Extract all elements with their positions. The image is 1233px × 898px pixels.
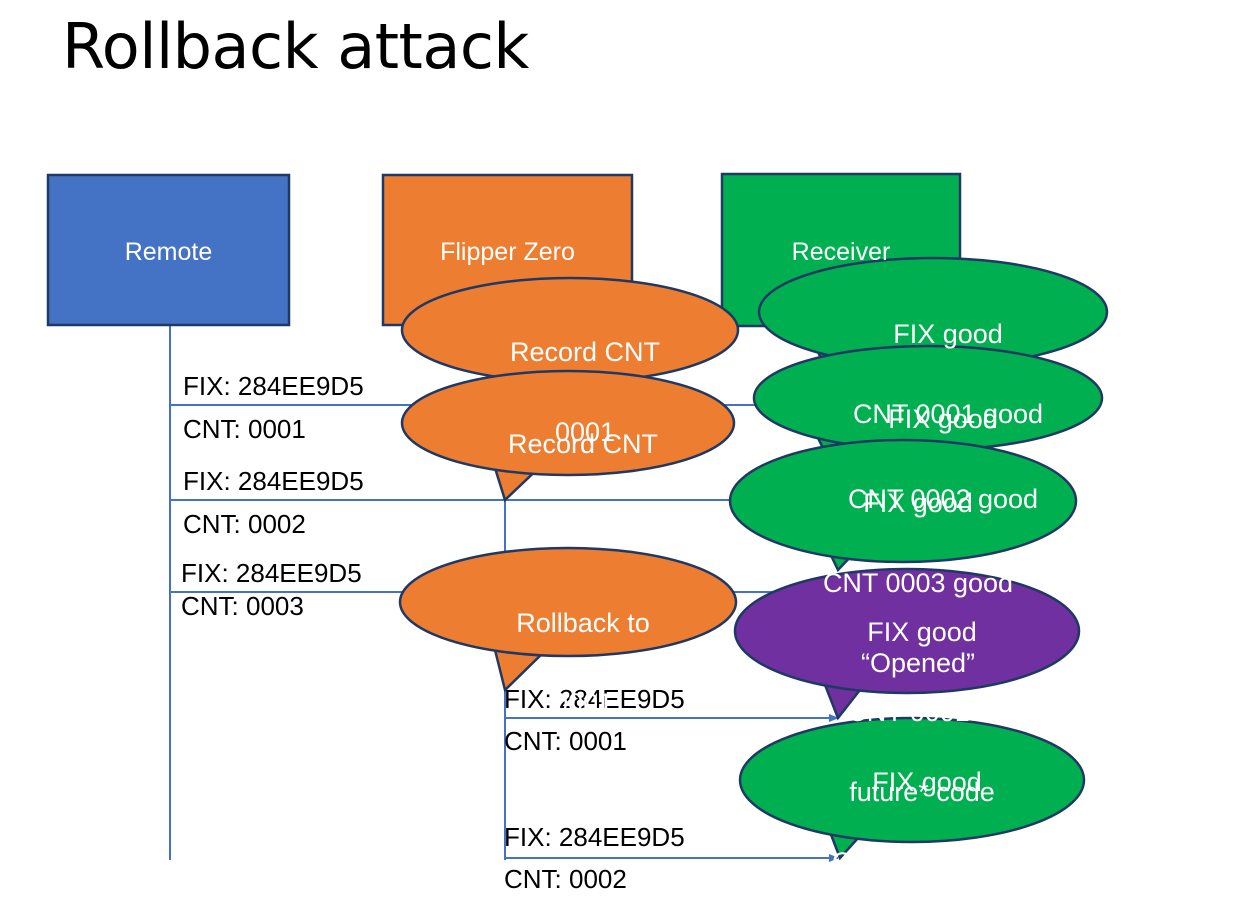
message-cnt-m4: CNT: 0001 [504,726,627,757]
callout-rb5[interactable] [740,718,1084,858]
callout-rb4[interactable] [735,569,1079,718]
lane-label-remote: Remote [48,238,289,267]
message-cnt-m2: CNT: 0002 [183,509,306,540]
message-fix-m5: FIX: 284EE9D5 [504,822,685,853]
slide-canvas: Rollback attack Remote Flipper Zero Rece… [0,0,1233,898]
lane-label-receiver: Receiver [722,238,960,267]
page-title: Rollback attack [62,10,529,83]
message-cnt-m3: CNT: 0003 [181,591,304,622]
message-fix-m1: FIX: 284EE9D5 [183,371,364,402]
callout-fb3[interactable] [400,548,736,690]
message-cnt-m5: CNT: 0002 [504,864,627,895]
message-cnt-m1: CNT: 0001 [183,414,306,445]
message-fix-m4: FIX: 284EE9D5 [504,684,685,715]
lane-label-flipper: Flipper Zero [383,238,632,267]
message-fix-m2: FIX: 284EE9D5 [183,466,364,497]
message-fix-m3: FIX: 284EE9D5 [181,558,362,589]
callout-bubbles-layer [0,0,1233,898]
callout-rb3[interactable] [730,440,1076,570]
callout-fb2[interactable] [402,371,734,500]
